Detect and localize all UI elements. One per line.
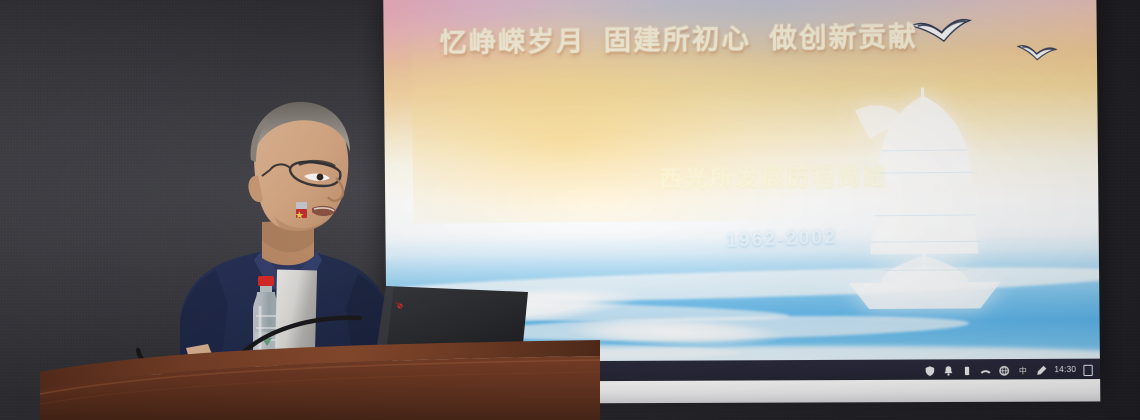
slide-title-part-2: 固建所初心	[604, 24, 752, 56]
slide-subtitle: 西光所发展历程简述	[553, 158, 996, 195]
ime-icon[interactable]: 中	[1017, 365, 1028, 376]
battery-icon[interactable]	[961, 365, 972, 376]
shield-icon[interactable]	[924, 365, 935, 376]
slide-title: 忆峥嵘岁月固建所初心做创新贡献	[439, 13, 1053, 61]
slide-title-part-3: 做创新贡献	[769, 22, 918, 54]
wooden-lectern	[40, 338, 600, 420]
network-icon[interactable]	[980, 365, 991, 376]
notification-icon[interactable]	[1083, 364, 1092, 375]
presentation-room-photo: 忆峥嵘岁月固建所初心做创新贡献 西光所发展历程简述 1962-2002	[0, 0, 1140, 420]
taskbar-clock[interactable]: 14:30	[1054, 366, 1076, 374]
party-emblem-pin	[296, 202, 308, 219]
globe-icon[interactable]	[998, 365, 1009, 376]
slide-title-part-1: 忆峥嵘岁月	[440, 26, 586, 58]
bell-icon[interactable]	[943, 365, 954, 376]
bottle-cap	[258, 276, 274, 286]
wave-spray	[569, 316, 783, 348]
sailing-ship-graphic	[816, 78, 1035, 334]
pen-icon[interactable]	[1036, 364, 1048, 375]
svg-text:中: 中	[1019, 365, 1027, 375]
system-tray[interactable]: 中 14:30	[924, 364, 1100, 376]
